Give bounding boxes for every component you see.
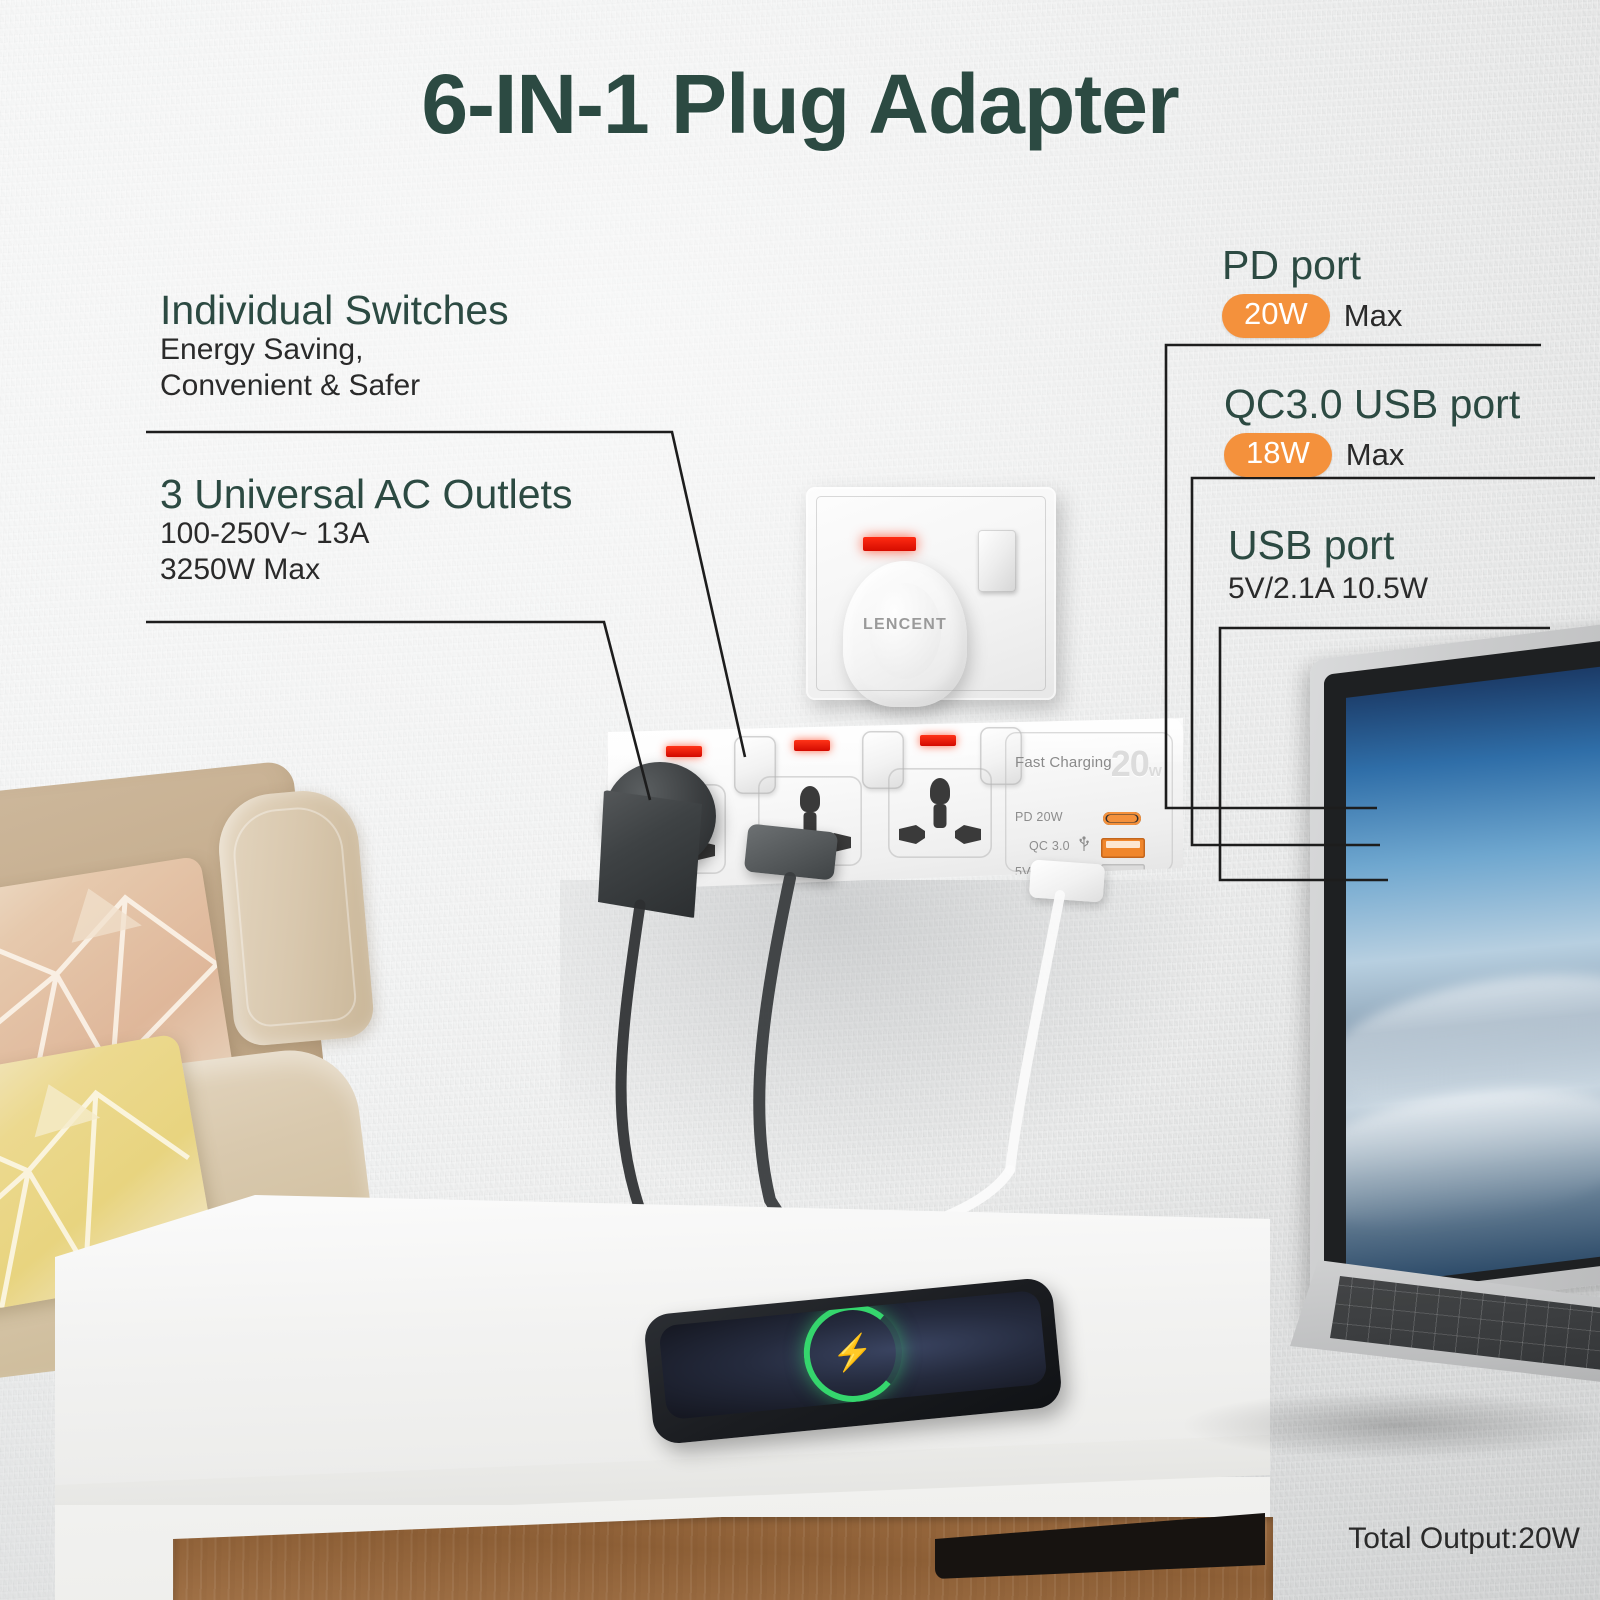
- outlet-led-2: [794, 740, 830, 751]
- laptop-screen: [1346, 662, 1600, 1288]
- callout-heading: PD port: [1222, 243, 1402, 287]
- callout-sub-line-1: 100-250V~ 13A: [160, 516, 572, 551]
- socket-indicator-led: [863, 537, 916, 551]
- callout-pd-port: PD port 20W Max: [1222, 243, 1402, 338]
- wall-socket: LENCENT: [806, 487, 1056, 700]
- callout-qc-usb-port: QC3.0 USB port 18W Max: [1224, 382, 1520, 477]
- white-usb-cable-plug: [1029, 859, 1105, 902]
- lencent-plug: LENCENT: [843, 561, 967, 707]
- watt-badge-print: 20w: [1111, 743, 1161, 785]
- callout-individual-switches: Individual Switches Energy Saving, Conve…: [160, 288, 509, 403]
- usb-a-tongue: [1106, 841, 1140, 848]
- qc-port-label: QC 3.0: [1029, 839, 1070, 853]
- callout-ac-outlets: 3 Universal AC Outlets 100-250V~ 13A 325…: [160, 472, 572, 587]
- wall-shadow: [560, 880, 1240, 1210]
- laptop: [1290, 640, 1600, 1440]
- outlet-earth-hole: [930, 778, 950, 804]
- pd-port-label: PD 20W: [1015, 810, 1063, 824]
- callout-sub-line-2: 3250W Max: [160, 552, 572, 587]
- page-title: 6-IN-1 Plug Adapter: [0, 62, 1600, 146]
- callout-badge-row: 18W Max: [1224, 433, 1520, 477]
- usb-panel: Fast Charging 20w PD 20W QC 3.0 5V/: [1005, 732, 1173, 872]
- outlet-left-hole: [899, 825, 925, 844]
- callout-sub-line-1: Energy Saving,: [160, 332, 509, 367]
- usb-a-port-qc[interactable]: [1101, 838, 1145, 858]
- usb-c-inner: [1107, 815, 1137, 822]
- wattage-badge: 18W: [1224, 433, 1332, 477]
- total-output-label: Total Output:20W: [1348, 1522, 1580, 1556]
- watt-number: 20: [1111, 743, 1149, 784]
- product-infographic: 6-IN-1 Plug Adapter: [0, 0, 1600, 1600]
- badge-suffix: Max: [1344, 298, 1403, 334]
- lightning-bolt-icon: ⚡: [830, 1334, 875, 1372]
- callout-heading: 3 Universal AC Outlets: [160, 472, 572, 516]
- callout-heading: USB port: [1228, 523, 1428, 567]
- callout-badge-row: 20W Max: [1222, 294, 1402, 338]
- outlet-center-hole: [934, 804, 947, 828]
- outlet-led-3: [920, 735, 956, 746]
- usb-c-port[interactable]: [1103, 812, 1141, 825]
- socket-rocker-switch[interactable]: [978, 530, 1016, 592]
- brand-logo: LENCENT: [843, 616, 967, 634]
- fast-charging-label: Fast Charging: [1015, 754, 1112, 771]
- callout-sub-line-1: 5V/2.1A 10.5W: [1228, 571, 1428, 606]
- callout-heading: QC3.0 USB port: [1224, 382, 1520, 426]
- black-charger-plug: [598, 790, 702, 918]
- wattage-badge: 20W: [1222, 294, 1330, 338]
- usb-icon: [1077, 836, 1091, 852]
- watt-unit: w: [1149, 761, 1161, 780]
- smartphone: ⚡: [648, 1296, 1058, 1426]
- badge-suffix: Max: [1346, 437, 1405, 473]
- ac-outlet-3[interactable]: [888, 768, 992, 858]
- callout-usb-port: USB port 5V/2.1A 10.5W: [1228, 523, 1428, 607]
- outlet-led-1: [666, 746, 702, 757]
- callout-heading: Individual Switches: [160, 288, 509, 332]
- callout-sub-line-2: Convenient & Safer: [160, 368, 509, 403]
- sofa-armrest: [214, 786, 375, 1047]
- outlet-earth-hole: [800, 786, 820, 812]
- outlet-right-hole: [955, 825, 981, 844]
- grey-cable-plug: [744, 823, 839, 880]
- plug-dimple: [869, 583, 941, 679]
